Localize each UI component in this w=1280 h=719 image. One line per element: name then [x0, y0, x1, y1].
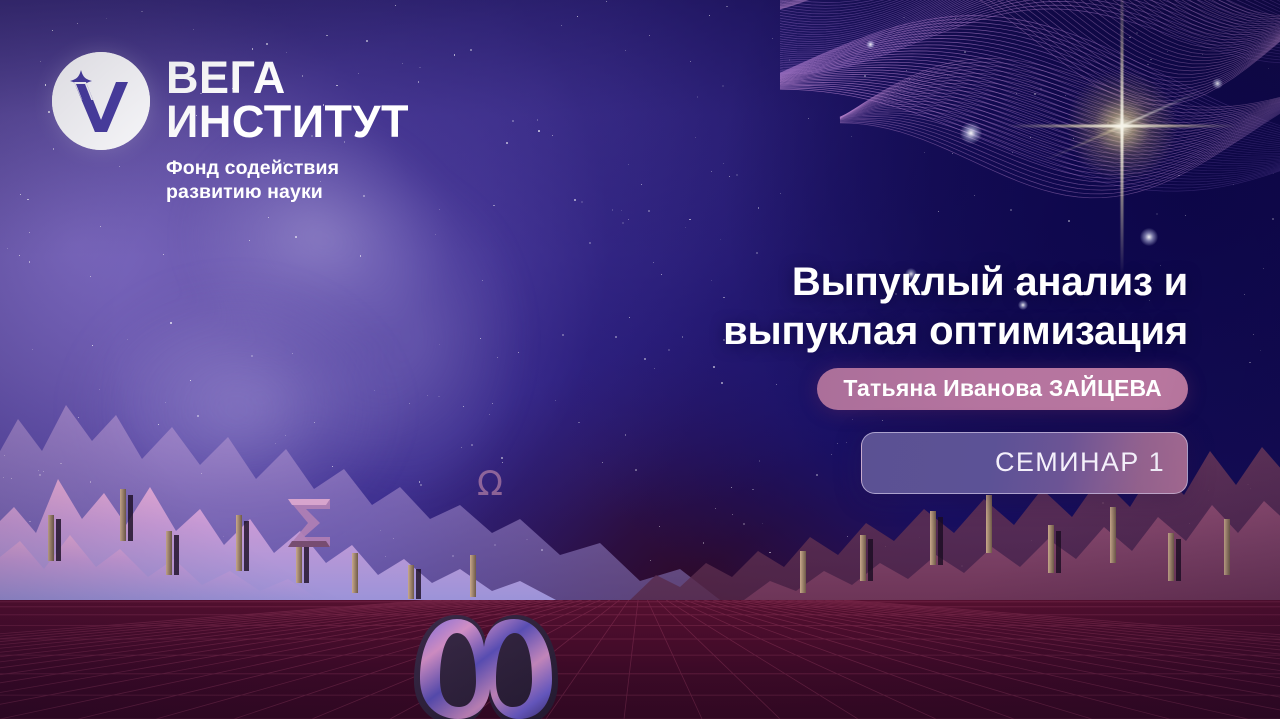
brand-name-line1: ВЕГА — [166, 56, 409, 100]
page-title-line1: Выпуклый анализ и — [568, 258, 1188, 307]
presentation-slide: Ω — [0, 0, 1280, 719]
brand-name-line2: ИНСТИТУТ — [166, 100, 409, 144]
brand-tagline-line1: Фонд содействия — [166, 157, 409, 181]
vega-v-circle-icon — [52, 52, 150, 150]
brand-logo[interactable]: ВЕГА ИНСТИТУТ Фонд содействия развитию н… — [52, 52, 409, 205]
page-title-line2: выпуклая оптимизация — [568, 307, 1188, 356]
title-block: Выпуклый анализ и выпуклая оптимизация Т… — [568, 258, 1188, 494]
speaker-name-badge: Татьяна Иванова ЗАЙЦЕВА — [817, 368, 1188, 411]
perspective-grid-icon — [0, 600, 1280, 719]
seminar-number-badge[interactable]: СЕМИНАР 1 — [861, 432, 1188, 493]
brand-tagline-line2: развитию науки — [166, 181, 409, 205]
